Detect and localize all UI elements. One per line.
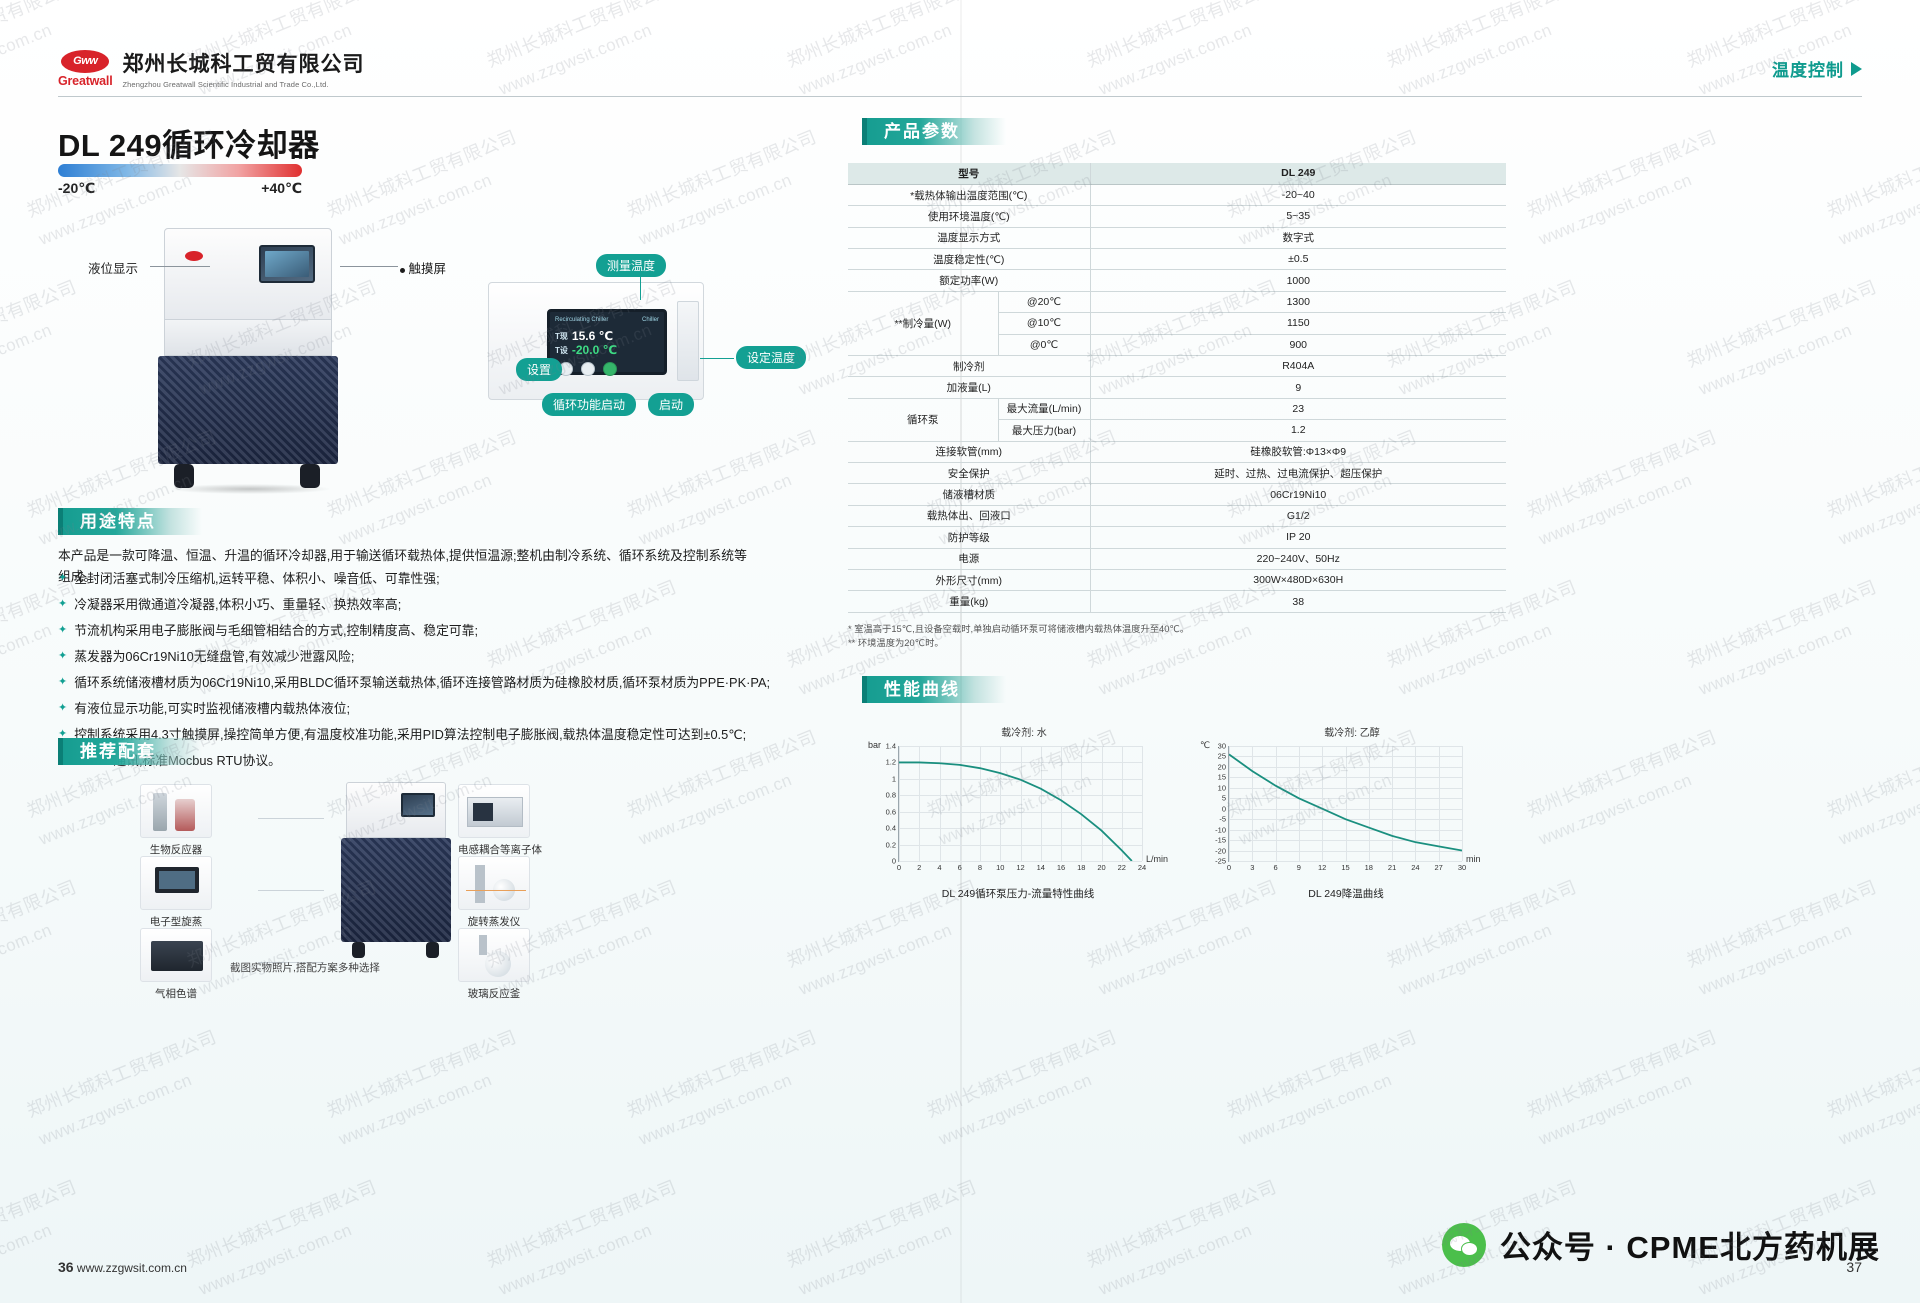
watermark-url: www.zzgwsit.com.cn: [336, 470, 495, 550]
page-header: Gww Greatwall 郑州长城科工贸有限公司 Zhengzhou Grea…: [0, 44, 1920, 96]
performance-heading-bar: 性能曲线: [862, 676, 1006, 703]
chart-xtick-label: 8: [978, 863, 982, 872]
thumb-glass-reactor: [458, 928, 530, 982]
chart-ytick-label: -15: [1215, 836, 1226, 845]
table-row: 载热体出、回液口G1/2: [848, 505, 1506, 526]
params-row-value: 06Cr19Ni10: [1090, 484, 1506, 505]
chart-ytick-label: 1.4: [886, 742, 896, 751]
product-upper-housing: [164, 228, 332, 320]
params-row-label: 载热体出、回液口: [848, 505, 1090, 526]
recommend-left-3: 气相色谱: [140, 928, 212, 1001]
watermark-url: www.zzgwsit.com.cn: [1536, 470, 1695, 550]
params-row-value: 38: [1090, 591, 1506, 612]
recommend-left-1: 生物反应器: [140, 784, 212, 857]
feature-item-text: 循环系统储液槽材质为06Cr19Ni10,采用BLDC循环泵输送载热体,循环连接…: [74, 670, 770, 696]
params-row-value: 23: [1090, 398, 1506, 419]
watermark-company: 郑州长城科工贸有限公司: [1522, 423, 1719, 523]
chart-xtick-label: 24: [1411, 863, 1419, 872]
watermark-url: www.zzgwsit.com.cn: [1396, 920, 1555, 1000]
feature-item: ✦节流机构采用电子膨胀阀与毛细管相结合的方式,控制精度高、稳定可靠;: [58, 618, 778, 644]
params-row-label: 温度稳定性(℃): [848, 249, 1090, 270]
chart-ytick-label: 0: [1222, 804, 1226, 813]
chart-xtick-label: 2: [917, 863, 921, 872]
panel-start-button-icon[interactable]: [603, 362, 617, 376]
params-heading-label: 产品参数: [862, 118, 1006, 145]
features-heading-label: 用途特点: [58, 508, 202, 535]
product-grille-body: [158, 356, 338, 464]
center-product-screen: [401, 793, 435, 817]
watermark-url: www.zzgwsit.com.cn: [1536, 770, 1695, 850]
connector-left-2: [258, 890, 324, 891]
watermark-company: 郑州长城科工贸有限公司: [1222, 1023, 1419, 1123]
chart0-yunit: bar: [868, 740, 881, 750]
logo-wordmark: Greatwall: [58, 74, 112, 88]
chart-ytick-label: 30: [1218, 742, 1226, 751]
watermark-company: 郑州长城科工贸有限公司: [322, 1023, 519, 1123]
bullet-icon: ✦: [58, 592, 67, 618]
watermark-url: www.zzgwsit.com.cn: [1696, 620, 1855, 700]
feature-item: ✦蒸发器为06Cr19Ni10无缝盘管,有效减少泄露风险;: [58, 644, 778, 670]
params-row-group-label: 循环泵: [848, 398, 998, 441]
params-row-value: -20~40: [1090, 184, 1506, 205]
chart-ytick-label: 1.2: [886, 758, 896, 767]
temp-min-label: -20℃: [58, 180, 95, 197]
tag-cycle-start: 循环功能启动: [542, 393, 636, 416]
params-row-value: 1.2: [1090, 420, 1506, 441]
watermark-company: 郑州长城科工贸有限公司: [1822, 723, 1920, 823]
chart0-title: 载冷剂: 水: [924, 724, 1124, 739]
watermark-company: 郑州长城科工贸有限公司: [1522, 1023, 1719, 1123]
watermark-company: 郑州长城科工贸有限公司: [622, 123, 819, 223]
params-header-value: DL 249: [1090, 163, 1506, 184]
panel-setpoint-row: T设 -20.0 ℃: [555, 343, 659, 357]
watermark-url: www.zzgwsit.com.cn: [636, 1070, 795, 1150]
brand-block: 郑州长城科工贸有限公司 Zhengzhou Greatwall Scientif…: [122, 48, 364, 89]
watermark-company: 郑州长城科工贸有限公司: [182, 1173, 379, 1273]
chart-ytick-label: -25: [1215, 857, 1226, 866]
params-row-value: 900: [1090, 334, 1506, 355]
recommend-right-1: 电感耦合等离子体: [458, 784, 542, 857]
chart1-title: 载冷剂: 乙醇: [1252, 724, 1452, 739]
params-row-label: 电源: [848, 548, 1090, 569]
params-header-label: 型号: [848, 163, 1090, 184]
center-product-body: [341, 838, 451, 942]
chart1-yunit: ℃: [1200, 740, 1210, 751]
chart-gridline-vertical: [1462, 746, 1463, 861]
chart0-caption: DL 249循环泵压力-流量特性曲线: [868, 886, 1168, 901]
watermark-company: 郑州长城科工贸有限公司: [0, 1173, 80, 1273]
feature-item: ✦冷凝器采用微通道冷凝器,体积小巧、重量轻、换热效率高;: [58, 592, 778, 618]
params-row-label: 连接软管(mm): [848, 441, 1090, 462]
product-touchscreen: [259, 245, 315, 283]
chart-xtick-label: 3: [1250, 863, 1254, 872]
panel-measured-value: 15.6 ℃: [572, 329, 613, 343]
table-row: 储液槽材质06Cr19Ni10: [848, 484, 1506, 505]
chart1-xunit: min: [1466, 854, 1481, 864]
connector-center: [466, 890, 526, 891]
brand-name-cn: 郑州长城科工贸有限公司: [122, 48, 364, 78]
params-row-value: 硅橡胶软管:Φ13×Φ9: [1090, 441, 1506, 462]
panel-cycle-button-icon[interactable]: [581, 362, 595, 376]
connector-left-1: [258, 818, 324, 819]
params-table: 型号DL 249*载热体输出温度范围(℃)-20~40使用环境温度(℃)5~35…: [848, 163, 1506, 613]
params-footnote-2: ** 环境温度为20℃时。: [848, 636, 1508, 650]
table-row: 使用环境温度(℃)5~35: [848, 206, 1506, 227]
product-shadow: [170, 484, 330, 494]
chart-xtick-label: 10: [996, 863, 1004, 872]
table-row: 温度稳定性(℃)±0.5: [848, 249, 1506, 270]
params-row-value: 9: [1090, 377, 1506, 398]
feature-item-text: 有液位显示功能,可实时监视储液槽内载热体液位;: [74, 696, 350, 722]
table-row: 安全保护延时、过热、过电流保护、超压保护: [848, 462, 1506, 483]
watermark-company: 郑州长城科工贸有限公司: [782, 1173, 979, 1273]
chart-ytick-label: 0.2: [886, 840, 896, 849]
logo-mark: Gww Greatwall: [58, 50, 112, 88]
watermark-url: www.zzgwsit.com.cn: [36, 1070, 195, 1150]
chart-xtick-label: 6: [1274, 863, 1278, 872]
chart-xtick-label: 18: [1365, 863, 1373, 872]
performance-heading-label: 性能曲线: [862, 676, 1006, 703]
watermark-url: www.zzgwsit.com.cn: [0, 920, 55, 1000]
chart-xtick-label: 30: [1458, 863, 1466, 872]
panel-device-name: Recirculating Chiller: [555, 317, 608, 323]
params-row-sublabel: 最大流量(L/min): [998, 398, 1090, 419]
thumb-glass-reactor-caption: 玻璃反应釜: [458, 986, 530, 1001]
chart-xtick-label: 16: [1057, 863, 1065, 872]
page-number-right: 37: [1846, 1259, 1862, 1275]
watermark-url: www.zzgwsit.com.cn: [1696, 920, 1855, 1000]
chart-xtick-label: 18: [1077, 863, 1085, 872]
params-row-value: 数字式: [1090, 227, 1506, 248]
table-row: 连接软管(mm)硅橡胶软管:Φ13×Φ9: [848, 441, 1506, 462]
params-row-label: 加液量(L): [848, 377, 1090, 398]
feature-item-text: 冷凝器采用微通道冷凝器,体积小巧、重量轻、换热效率高;: [74, 592, 401, 618]
feature-item: ✦全封闭活塞式制冷压缩机,运转平稳、体积小、噪音低、可靠性强;: [58, 566, 778, 592]
thumb-gas-chromatograph-caption: 气相色谱: [140, 986, 212, 1001]
chart-ytick-label: 0.6: [886, 807, 896, 816]
callout-touch-screen-label: 触摸屏: [408, 262, 446, 276]
tag-leader-set: [700, 358, 734, 359]
watermark-url: www.zzgwsit.com.cn: [1836, 170, 1920, 250]
category-tag: 温度控制: [1772, 56, 1862, 81]
watermark-company: 郑州长城科工贸有限公司: [622, 423, 819, 523]
tag-settings: 设置: [516, 358, 562, 381]
chart-xtick-label: 22: [1118, 863, 1126, 872]
params-row-sublabel: 最大压力(bar): [998, 420, 1090, 441]
params-footnote-1: * 室温高于15℃,且设备空载时,单独启动循环泵可将储液槽内载热体温度升至40℃…: [848, 622, 1508, 636]
chart-ytick-label: 10: [1218, 783, 1226, 792]
chart-gridline-vertical: [1142, 746, 1143, 861]
table-row: 温度显示方式数字式: [848, 227, 1506, 248]
watermark-url: www.zzgwsit.com.cn: [496, 1220, 655, 1300]
params-row-sublabel: @10℃: [998, 313, 1090, 334]
bullet-icon: ✦: [58, 618, 67, 644]
panel-display: Recirculating Chiller Chiller T现 15.6 ℃ …: [547, 309, 667, 375]
chart0-plot: 02468101214161820222400.20.40.60.811.21.…: [898, 746, 1142, 862]
recommend-right-2: 旋转蒸发仪: [458, 856, 530, 929]
chart-xtick-label: 15: [1341, 863, 1349, 872]
brand-name-en: Zhengzhou Greatwall Scientific Industria…: [122, 80, 364, 89]
params-row-label: 重量(kg): [848, 591, 1090, 612]
watermark-company: 郑州长城科工贸有限公司: [22, 1023, 219, 1123]
params-row-value: 1000: [1090, 270, 1506, 291]
table-row: 循环泵最大流量(L/min)23: [848, 398, 1506, 419]
params-heading-bar: 产品参数: [862, 118, 1006, 145]
triangle-left-icon: [1851, 62, 1862, 76]
params-footnotes: * 室温高于15℃,且设备空载时,单独启动循环泵可将储液槽内载热体温度升至40℃…: [848, 622, 1508, 651]
params-row-label: 外形尺寸(mm): [848, 569, 1090, 590]
params-row-label: 储液槽材质: [848, 484, 1090, 505]
feature-item: ✦有液位显示功能,可实时监视储液槽内载热体液位;: [58, 696, 778, 722]
watermark-url: www.zzgwsit.com.cn: [1836, 470, 1920, 550]
recommend-center-product: [336, 782, 456, 960]
panel-setpoint-label: T设: [555, 345, 568, 356]
params-row-label: 防护等级: [848, 527, 1090, 548]
thumb-rotovap: [458, 856, 530, 910]
chart-ytick-label: -10: [1215, 825, 1226, 834]
panel-display-header: Recirculating Chiller Chiller: [555, 317, 659, 323]
chart-xtick-label: 24: [1138, 863, 1146, 872]
watermark-url: www.zzgwsit.com.cn: [1836, 770, 1920, 850]
bullet-icon: ✦: [58, 566, 67, 592]
watermark-url: www.zzgwsit.com.cn: [796, 920, 955, 1000]
params-row-value: G1/2: [1090, 505, 1506, 526]
params-row-label: 安全保护: [848, 462, 1090, 483]
watermark-url: www.zzgwsit.com.cn: [196, 1220, 355, 1300]
watermark-url: www.zzgwsit.com.cn: [1236, 1070, 1395, 1150]
chart-series-svg: [1229, 746, 1462, 861]
chart-gridline-horizontal: [1229, 861, 1462, 862]
params-row-label: 制冷剂: [848, 356, 1090, 377]
panel-measured-label: T现: [555, 331, 568, 342]
feature-item-text: 蒸发器为06Cr19Ni10无缝盘管,有效减少泄露风险;: [74, 644, 354, 670]
chart-ytick-label: 1: [892, 774, 896, 783]
panel-screen-title: Chiller: [642, 317, 659, 323]
chart1-plot: 036912151821242730302520151050-5-10-15-2…: [1228, 746, 1462, 862]
control-panel-photo: Recirculating Chiller Chiller T现 15.6 ℃ …: [488, 282, 704, 400]
temp-max-label: +40℃: [261, 180, 302, 197]
chart-ytick-label: 15: [1218, 773, 1226, 782]
header-divider: [58, 96, 1862, 97]
panel-button-row: [555, 362, 659, 376]
callout-leader-2: [340, 266, 398, 267]
chart-ytick-label: 25: [1218, 752, 1226, 761]
chart-xtick-label: 14: [1037, 863, 1045, 872]
chart0-xunit: L/min: [1146, 854, 1168, 864]
watermark-company: 郑州长城科工贸有限公司: [1822, 123, 1920, 223]
brochure-page: Gww Greatwall 郑州长城科工贸有限公司 Zhengzhou Grea…: [0, 0, 1920, 1303]
chart-xtick-label: 9: [1297, 863, 1301, 872]
watermark-company: 郑州长城科工贸有限公司: [322, 123, 519, 223]
temperature-gradient: [58, 164, 302, 177]
watermark-company: 郑州长城科工贸有限公司: [622, 1023, 819, 1123]
chart-ytick-label: 0: [892, 857, 896, 866]
watermark-url: www.zzgwsit.com.cn: [336, 1070, 495, 1150]
chart-series-svg: [899, 746, 1142, 861]
chart-cooling-curve: 载冷剂: 乙醇 ℃ 036912151821242730302520151050…: [1196, 724, 1496, 904]
params-row-value: 220~240V、50Hz: [1090, 548, 1506, 569]
params-row-value: 1300: [1090, 291, 1506, 312]
features-heading-bar: 用途特点: [58, 508, 202, 535]
chart-ytick-label: 0.8: [886, 791, 896, 800]
watermark-url: www.zzgwsit.com.cn: [796, 1220, 955, 1300]
chart-xtick-label: 0: [897, 863, 901, 872]
bullet-dot-icon: [400, 268, 405, 273]
callout-liquid-level: 液位显示: [88, 258, 138, 277]
watermark-url: www.zzgwsit.com.cn: [1536, 170, 1695, 250]
bullet-icon: ✦: [58, 670, 67, 696]
center-caster-left-icon: [352, 942, 365, 958]
chart-xtick-label: 6: [958, 863, 962, 872]
watermark-url: www.zzgwsit.com.cn: [636, 170, 795, 250]
watermark-company: 郑州长城科工贸有限公司: [1682, 573, 1879, 673]
category-tag-label: 温度控制: [1772, 56, 1844, 81]
watermark-company: 郑州长城科工贸有限公司: [482, 1173, 679, 1273]
watermark-url: www.zzgwsit.com.cn: [0, 1220, 55, 1300]
watermark-company: 郑州长城科工贸有限公司: [1082, 1173, 1279, 1273]
thumb-bioreactor: [140, 784, 212, 838]
table-row: **制冷量(W)@20℃1300: [848, 291, 1506, 312]
chart-xtick-label: 27: [1435, 863, 1443, 872]
chart-ytick-label: 0.4: [886, 824, 896, 833]
page-number-left-value: 36: [58, 1259, 74, 1275]
chart-ytick-label: 5: [1222, 794, 1226, 803]
watermark-company: 郑州长城科工贸有限公司: [922, 1023, 1119, 1123]
company-logo: Gww Greatwall 郑州长城科工贸有限公司 Zhengzhou Grea…: [58, 48, 364, 89]
feature-item-text: 节流机构采用电子膨胀阀与毛细管相结合的方式,控制精度高、稳定可靠;: [74, 618, 478, 644]
table-row: 加液量(L)9: [848, 377, 1506, 398]
product-photo: [150, 228, 346, 488]
tag-start: 启动: [648, 393, 694, 416]
chart-series-line: [899, 762, 1132, 861]
watermark-company: 郑州长城科工贸有限公司: [0, 273, 80, 373]
recommend-row: 生物反应器 电子型旋蒸 气相色谱: [58, 760, 798, 970]
thumb-icp: [458, 784, 530, 838]
watermark-company: 郑州长城科工贸有限公司: [1522, 723, 1719, 823]
params-row-value: ±0.5: [1090, 249, 1506, 270]
thumb-gas-chromatograph: [140, 928, 212, 982]
watermark-url: www.zzgwsit.com.cn: [1836, 1070, 1920, 1150]
thumb-rotary-evaporator-caption: 电子型旋蒸: [140, 914, 212, 929]
params-row-value: IP 20: [1090, 527, 1506, 548]
center-caster-right-icon: [426, 942, 439, 958]
thumb-rotary-evaporator: [140, 856, 212, 910]
watermark-url: www.zzgwsit.com.cn: [1696, 320, 1855, 400]
chart-xtick-label: 20: [1097, 863, 1105, 872]
thumb-bioreactor-caption: 生物反应器: [140, 842, 212, 857]
params-row-value: 1150: [1090, 313, 1506, 334]
watermark-url: www.zzgwsit.com.cn: [0, 620, 55, 700]
panel-setpoint-value: -20.0 ℃: [572, 343, 617, 357]
chart-gridline-horizontal: [899, 861, 1142, 862]
table-row: 制冷剂R404A: [848, 356, 1506, 377]
chart-ytick-label: 20: [1218, 762, 1226, 771]
tag-measure-temp: 测量温度: [596, 254, 666, 277]
params-row-value: R404A: [1090, 356, 1506, 377]
watermark-company: 郑州长城科工贸有限公司: [322, 423, 519, 523]
page-number-left: 36 www.zzgwsit.com.cn: [58, 1259, 187, 1275]
callout-liquid-level-label: 液位显示: [88, 262, 138, 276]
bullet-icon: ✦: [58, 644, 67, 670]
page-site-left: www.zzgwsit.com.cn: [77, 1261, 187, 1275]
watermark-url: www.zzgwsit.com.cn: [1536, 1070, 1695, 1150]
feature-item: ✦循环系统储液槽材质为06Cr19Ni10,采用BLDC循环泵输送载热体,循环连…: [58, 670, 778, 696]
watermark-url: www.zzgwsit.com.cn: [0, 320, 55, 400]
thumb-rotovap-caption: 旋转蒸发仪: [458, 914, 530, 929]
params-row-value: 5~35: [1090, 206, 1506, 227]
logo-oval-icon: Gww: [61, 50, 109, 73]
table-row: 电源220~240V、50Hz: [848, 548, 1506, 569]
params-row-label: 额定功率(W): [848, 270, 1090, 291]
table-row: 额定功率(W)1000: [848, 270, 1506, 291]
feature-item-text: 全封闭活塞式制冷压缩机,运转平稳、体积小、噪音低、可靠性强;: [74, 566, 439, 592]
chart-xtick-label: 0: [1227, 863, 1231, 872]
recommend-right-3: 玻璃反应釜: [458, 928, 530, 1001]
table-row: 防护等级IP 20: [848, 527, 1506, 548]
chart1-caption: DL 249降温曲线: [1196, 886, 1496, 901]
product-mid-housing: [164, 320, 332, 356]
callout-touch-screen: 触摸屏: [400, 258, 446, 277]
chart-xtick-label: 4: [937, 863, 941, 872]
watermark-company: 郑州长城科工贸有限公司: [1522, 123, 1719, 223]
wechat-icon: [1442, 1223, 1486, 1267]
chart-xtick-label: 12: [1318, 863, 1326, 872]
page-title: DL 249循环冷却器: [58, 120, 320, 165]
params-row-sublabel: @0℃: [998, 334, 1090, 355]
params-row-value: 延时、过热、过电流保护、超压保护: [1090, 462, 1506, 483]
watermark-url: www.zzgwsit.com.cn: [1096, 920, 1255, 1000]
thumb-icp-caption: 电感耦合等离子体: [458, 842, 542, 857]
params-row-group-label: **制冷量(W): [848, 291, 998, 355]
wechat-banner: 公众号 · CPME北方药机展: [1442, 1222, 1880, 1267]
watermark-url: www.zzgwsit.com.cn: [1096, 1220, 1255, 1300]
chart-pump-pressure-flow: 载冷剂: 水 bar 02468101214161820222400.20.40…: [868, 724, 1168, 904]
panel-side-module: [677, 301, 699, 381]
table-row: 外形尺寸(mm)300W×480D×630H: [848, 569, 1506, 590]
chart-xtick-label: 12: [1016, 863, 1024, 872]
chart-series-line: [1229, 754, 1462, 850]
center-product-top: [346, 782, 446, 838]
params-row-label: 温度显示方式: [848, 227, 1090, 248]
tag-set-temp: 设定温度: [736, 346, 806, 369]
product-brand-badge-icon: [185, 251, 203, 261]
panel-measured-row: T现 15.6 ℃: [555, 329, 659, 343]
params-table-header-row: 型号DL 249: [848, 163, 1506, 184]
chart-ytick-label: -20: [1215, 846, 1226, 855]
temperature-range-bar: -20℃ +40℃: [58, 164, 302, 197]
recommend-note: 截图实物照片,搭配方案多种选择: [230, 960, 380, 975]
watermark-url: www.zzgwsit.com.cn: [636, 470, 795, 550]
table-row: 重量(kg)38: [848, 591, 1506, 612]
watermark-company: 郑州长城科工贸有限公司: [1682, 273, 1879, 373]
params-row-label: 使用环境温度(℃): [848, 206, 1090, 227]
table-row: *载热体输出温度范围(℃)-20~40: [848, 184, 1506, 205]
watermark-company: 郑州长城科工贸有限公司: [1822, 1023, 1920, 1123]
watermark-url: www.zzgwsit.com.cn: [336, 170, 495, 250]
tag-leader-measure: [640, 268, 641, 300]
wechat-banner-text: 公众号 · CPME北方药机展: [1500, 1222, 1880, 1267]
chart-xtick-label: 21: [1388, 863, 1396, 872]
watermark-company: 郑州长城科工贸有限公司: [1822, 423, 1920, 523]
recommend-left-2: 电子型旋蒸: [140, 856, 212, 929]
callout-leader-1: [150, 266, 210, 267]
params-row-label: *载热体输出温度范围(℃): [848, 184, 1090, 205]
params-row-sublabel: @20℃: [998, 291, 1090, 312]
temperature-labels: -20℃ +40℃: [58, 180, 302, 197]
params-row-value: 300W×480D×630H: [1090, 569, 1506, 590]
bullet-icon: ✦: [58, 696, 67, 722]
watermark-company: 郑州长城科工贸有限公司: [1682, 873, 1879, 973]
